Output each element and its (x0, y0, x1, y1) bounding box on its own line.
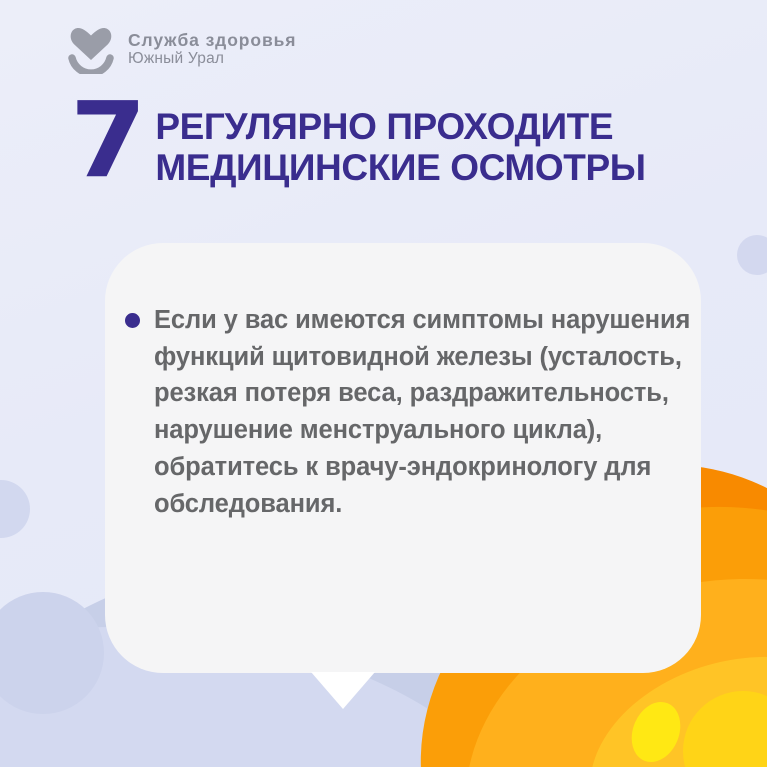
brand-name: Служба здоровья Южный Урал (128, 30, 296, 69)
heart-smile-icon (68, 24, 114, 74)
sun-shape-highlight (623, 695, 689, 767)
headline-line-1: РЕГУЛЯРНО ПРОХОДИТЕ (155, 106, 645, 147)
brand-name-primary: Служба здоровья (128, 30, 296, 51)
step-number: 7 (70, 100, 144, 181)
headline-block: 7 РЕГУЛЯРНО ПРОХОДИТЕ МЕДИЦИНСКИЕ ОСМОТР… (70, 100, 646, 189)
bullet-dot-icon (125, 313, 140, 328)
infographic-poster: Служба здоровья Южный Урал 7 РЕГУЛЯРНО П… (0, 0, 767, 767)
advice-body-text: Если у вас имеются симптомы нарушения фу… (154, 302, 695, 522)
headline-line-2: МЕДИЦИНСКИЕ ОСМОТРЫ (155, 147, 645, 188)
speech-bubble-tail (311, 672, 375, 709)
headline-text: РЕГУЛЯРНО ПРОХОДИТЕ МЕДИЦИНСКИЕ ОСМОТРЫ (155, 100, 645, 189)
decorative-circle-left-large (0, 592, 104, 714)
advice-bullet-item: Если у вас имеются симптомы нарушения фу… (125, 302, 695, 522)
decorative-circle-left-mid (0, 480, 30, 538)
brand-name-secondary: Южный Урал (128, 50, 296, 68)
sun-shape-corner (683, 691, 767, 767)
decorative-circle-right (737, 235, 767, 275)
brand-logo: Служба здоровья Южный Урал (68, 24, 296, 74)
